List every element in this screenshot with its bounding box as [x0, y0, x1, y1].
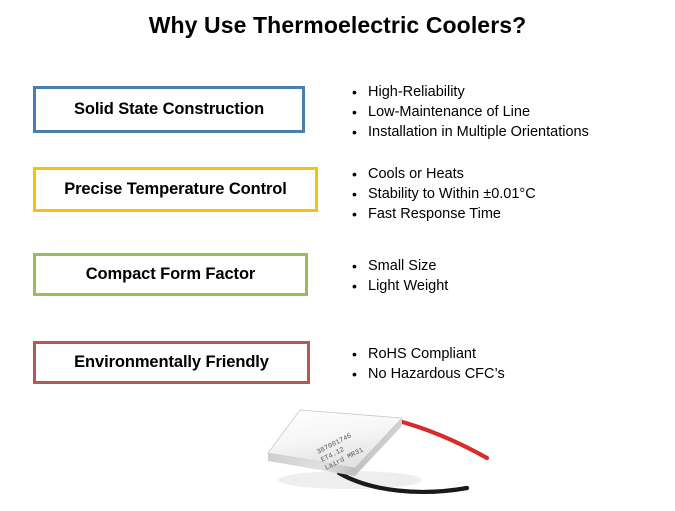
list-item: • Low-Maintenance of Line — [352, 102, 652, 122]
page-title: Why Use Thermoelectric Coolers? — [0, 12, 675, 39]
list-item-label: Stability to Within ±0.01°C — [368, 184, 652, 204]
feature-box-label: Solid State Construction — [74, 101, 264, 118]
list-item-label: Cools or Heats — [368, 164, 652, 184]
list-item: • Cools or Heats — [352, 164, 652, 184]
feature-box-precise-temperature-control[interactable]: Precise Temperature Control — [33, 167, 318, 212]
thermoelectric-cooler-illustration: 387001746 ET4.12 Laird MR31 — [262, 396, 562, 506]
bullet-icon: • — [352, 102, 368, 122]
list-item: • High-Reliability — [352, 82, 652, 102]
bullet-icon: • — [352, 164, 368, 184]
list-item: • Stability to Within ±0.01°C — [352, 184, 652, 204]
feature-box-label: Environmentally Friendly — [74, 354, 269, 371]
bullet-icon: • — [352, 204, 368, 224]
list-item-label: Fast Response Time — [368, 204, 652, 224]
bullet-icon: • — [352, 122, 368, 142]
feature-bullet-list: • RoHS Compliant • No Hazardous CFC’s — [352, 344, 652, 384]
bullet-icon: • — [352, 344, 368, 364]
list-item: • RoHS Compliant — [352, 344, 652, 364]
list-item-label: Installation in Multiple Orientations — [368, 122, 652, 142]
positive-lead-wire — [395, 420, 487, 458]
list-item: • Fast Response Time — [352, 204, 652, 224]
feature-bullet-list: • Cools or Heats • Stability to Within ±… — [352, 164, 652, 224]
list-item: • No Hazardous CFC’s — [352, 364, 652, 384]
list-item: • Light Weight — [352, 276, 652, 296]
list-item-label: Low-Maintenance of Line — [368, 102, 652, 122]
feature-box-label: Compact Form Factor — [86, 266, 256, 283]
bullet-icon: • — [352, 82, 368, 102]
list-item-label: RoHS Compliant — [368, 344, 652, 364]
feature-bullet-list: • Small Size • Light Weight — [352, 256, 652, 296]
bullet-icon: • — [352, 276, 368, 296]
feature-box-label: Precise Temperature Control — [64, 181, 287, 198]
list-item-label: Small Size — [368, 256, 652, 276]
list-item: • Installation in Multiple Orientations — [352, 122, 652, 142]
list-item-label: No Hazardous CFC’s — [368, 364, 652, 384]
bullet-icon: • — [352, 364, 368, 384]
list-item-label: High-Reliability — [368, 82, 652, 102]
feature-box-compact-form-factor[interactable]: Compact Form Factor — [33, 253, 308, 296]
bullet-icon: • — [352, 256, 368, 276]
feature-bullet-list: • High-Reliability • Low-Maintenance of … — [352, 82, 652, 142]
list-item: • Small Size — [352, 256, 652, 276]
feature-box-solid-state-construction[interactable]: Solid State Construction — [33, 86, 305, 133]
slide-canvas: Why Use Thermoelectric Coolers? Solid St… — [0, 0, 675, 506]
bullet-icon: • — [352, 184, 368, 204]
list-item-label: Light Weight — [368, 276, 652, 296]
product-photo-thermoelectric-cooler: 387001746 ET4.12 Laird MR31 — [262, 396, 562, 506]
feature-box-environmentally-friendly[interactable]: Environmentally Friendly — [33, 341, 310, 384]
